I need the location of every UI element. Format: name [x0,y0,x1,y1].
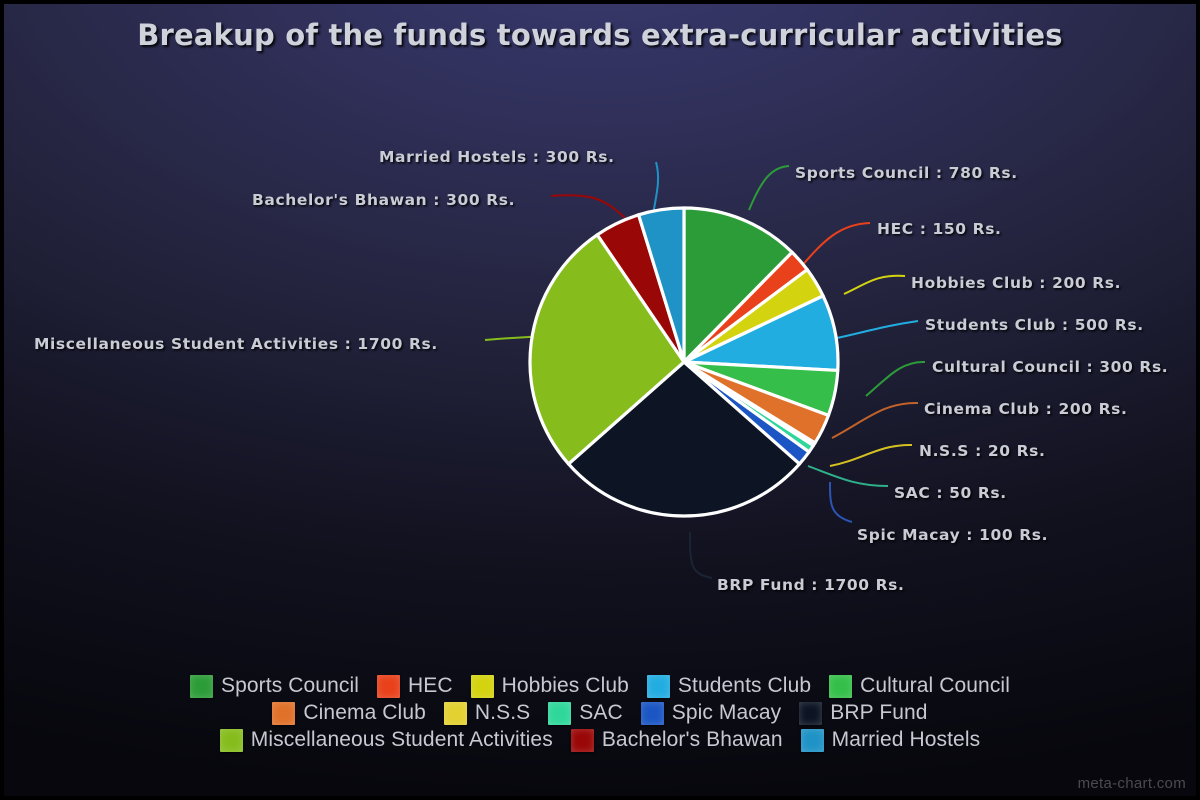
legend-swatch-icon [471,675,494,698]
legend-row: Sports CouncilHECHobbies ClubStudents Cl… [181,674,1019,698]
legend-item-label: Students Club [678,674,811,698]
legend-item[interactable]: BRP Fund [799,701,927,725]
legend-item-label: Married Hostels [832,728,981,752]
callout-label: Cinema Club : 200 Rs. [924,400,1127,418]
legend-swatch-icon [829,675,852,698]
legend-swatch-icon [190,675,213,698]
callout-label: Spic Macay : 100 Rs. [857,526,1048,544]
legend-swatch-icon [799,702,822,725]
callout-label: SAC : 50 Rs. [894,484,1007,502]
callout-label: BRP Fund : 1700 Rs. [717,576,904,594]
callout-label: Hobbies Club : 200 Rs. [911,274,1121,292]
callout-label: HEC : 150 Rs. [877,220,1002,238]
legend-item-label: HEC [408,674,453,698]
legend-swatch-icon [571,729,594,752]
callout-label: Miscellaneous Student Activities : 1700 … [34,335,438,353]
legend-swatch-icon [377,675,400,698]
legend-item[interactable]: SAC [548,701,622,725]
legend-item[interactable]: Cultural Council [829,674,1010,698]
legend-item[interactable]: Married Hostels [801,728,981,752]
legend-item-label: SAC [579,701,622,725]
callout-label: Students Club : 500 Rs. [925,316,1144,334]
legend-item[interactable]: Hobbies Club [471,674,629,698]
legend-item-label: N.S.S [475,701,530,725]
chart-canvas: Breakup of the funds towards extra-curri… [4,4,1196,796]
legend: Sports CouncilHECHobbies ClubStudents Cl… [4,674,1196,752]
legend-item-label: BRP Fund [830,701,927,725]
legend-row: Miscellaneous Student ActivitiesBachelor… [211,728,989,752]
callout-label: Cultural Council : 300 Rs. [932,358,1168,376]
legend-item[interactable]: Sports Council [190,674,359,698]
legend-item-label: Cinema Club [303,701,426,725]
legend-item-label: Cultural Council [860,674,1010,698]
legend-item-label: Spic Macay [672,701,782,725]
legend-item[interactable]: Miscellaneous Student Activities [220,728,553,752]
chart-root: Breakup of the funds towards extra-curri… [0,0,1200,800]
watermark: meta-chart.com [1078,775,1186,792]
legend-row: Cinema ClubN.S.SSACSpic MacayBRP Fund [263,701,936,725]
legend-item-label: Bachelor's Bhawan [602,728,783,752]
legend-item[interactable]: HEC [377,674,453,698]
legend-swatch-icon [801,729,824,752]
callout-label: Bachelor's Bhawan : 300 Rs. [252,191,515,209]
legend-swatch-icon [220,729,243,752]
legend-item[interactable]: Spic Macay [641,701,782,725]
legend-swatch-icon [548,702,571,725]
callout-label: Married Hostels : 300 Rs. [379,148,615,166]
legend-swatch-icon [647,675,670,698]
legend-item[interactable]: N.S.S [444,701,530,725]
legend-swatch-icon [444,702,467,725]
callout-label: N.S.S : 20 Rs. [919,442,1045,460]
legend-item[interactable]: Bachelor's Bhawan [571,728,783,752]
legend-item[interactable]: Cinema Club [272,701,426,725]
legend-item-label: Hobbies Club [502,674,629,698]
callout-label: Sports Council : 780 Rs. [795,164,1018,182]
legend-swatch-icon [272,702,295,725]
legend-item[interactable]: Students Club [647,674,811,698]
legend-item-label: Miscellaneous Student Activities [251,728,553,752]
legend-swatch-icon [641,702,664,725]
legend-item-label: Sports Council [221,674,359,698]
